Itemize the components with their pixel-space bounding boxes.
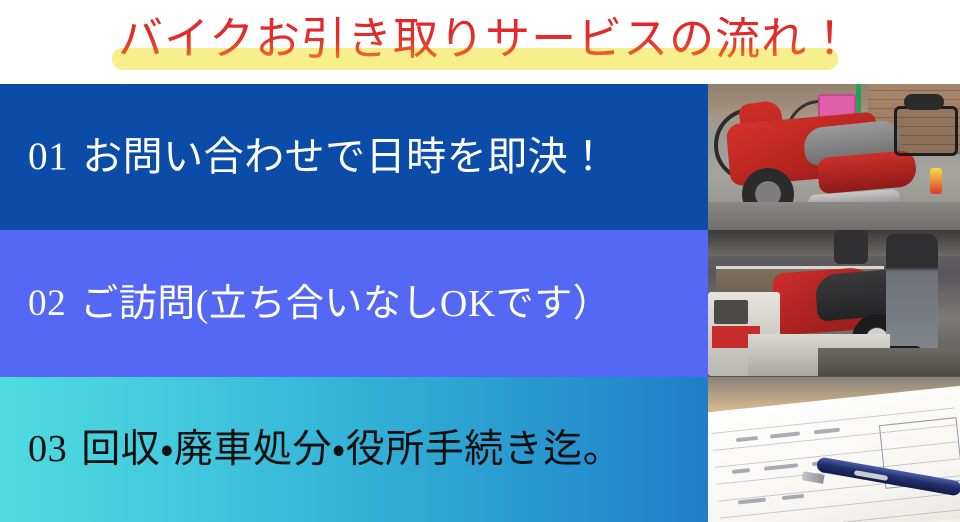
title-band: バイクお引き取りサービスの流れ！ — [0, 0, 960, 84]
rear-cargo-rack — [894, 106, 958, 156]
step-03-label: 回収・廃車処分・役所手続き迄。 — [81, 430, 622, 469]
truck-cab-window — [714, 300, 748, 324]
service-flow-infographic: バイクお引き取りサービスの流れ！ 01 お問い合わせで日時を即決！ — [0, 0, 960, 522]
loading-ramp — [818, 348, 960, 376]
steps-list: 01 お問い合わせで日時を即決！ — [0, 84, 960, 522]
step-row-02: 02 ご訪問(立ち合いなしOKです） — [0, 230, 960, 377]
worker-person — [886, 234, 938, 352]
garage-floor — [708, 202, 960, 230]
red-scooter-in-garage-photo — [708, 84, 960, 230]
step-03-text: 03 回収・廃車処分・役所手続き迄。 — [28, 377, 622, 522]
worker-arm — [834, 230, 868, 264]
tail-light — [930, 168, 942, 194]
step-row-01: 01 お問い合わせで日時を即決！ — [0, 84, 960, 230]
paperwork-with-pen-photo — [708, 377, 960, 522]
bicycle-saddle — [904, 94, 944, 110]
scooter-rear-cowl — [817, 150, 918, 194]
page-title: バイクお引き取りサービスの流れ！ — [118, 17, 853, 62]
step-02-label: ご訪問(立ち合いなしOKです） — [80, 285, 611, 323]
title-wrap: バイクお引き取りサービスの流れ！ — [118, 6, 853, 72]
step-02-text: 02 ご訪問(立ち合いなしOKです） — [28, 230, 611, 377]
step-01-label: お問い合わせで日時を即決！ — [82, 137, 609, 177]
loading-scooter-onto-truck-photo — [708, 230, 960, 377]
step-03-number: 03 — [28, 430, 67, 468]
step-02-number: 02 — [28, 285, 66, 322]
step-01-number: 01 — [28, 137, 68, 176]
step-row-03: 03 回収・廃車処分・役所手続き迄。 — [0, 377, 960, 522]
step-01-text: 01 お問い合わせで日時を即決！ — [28, 84, 609, 230]
